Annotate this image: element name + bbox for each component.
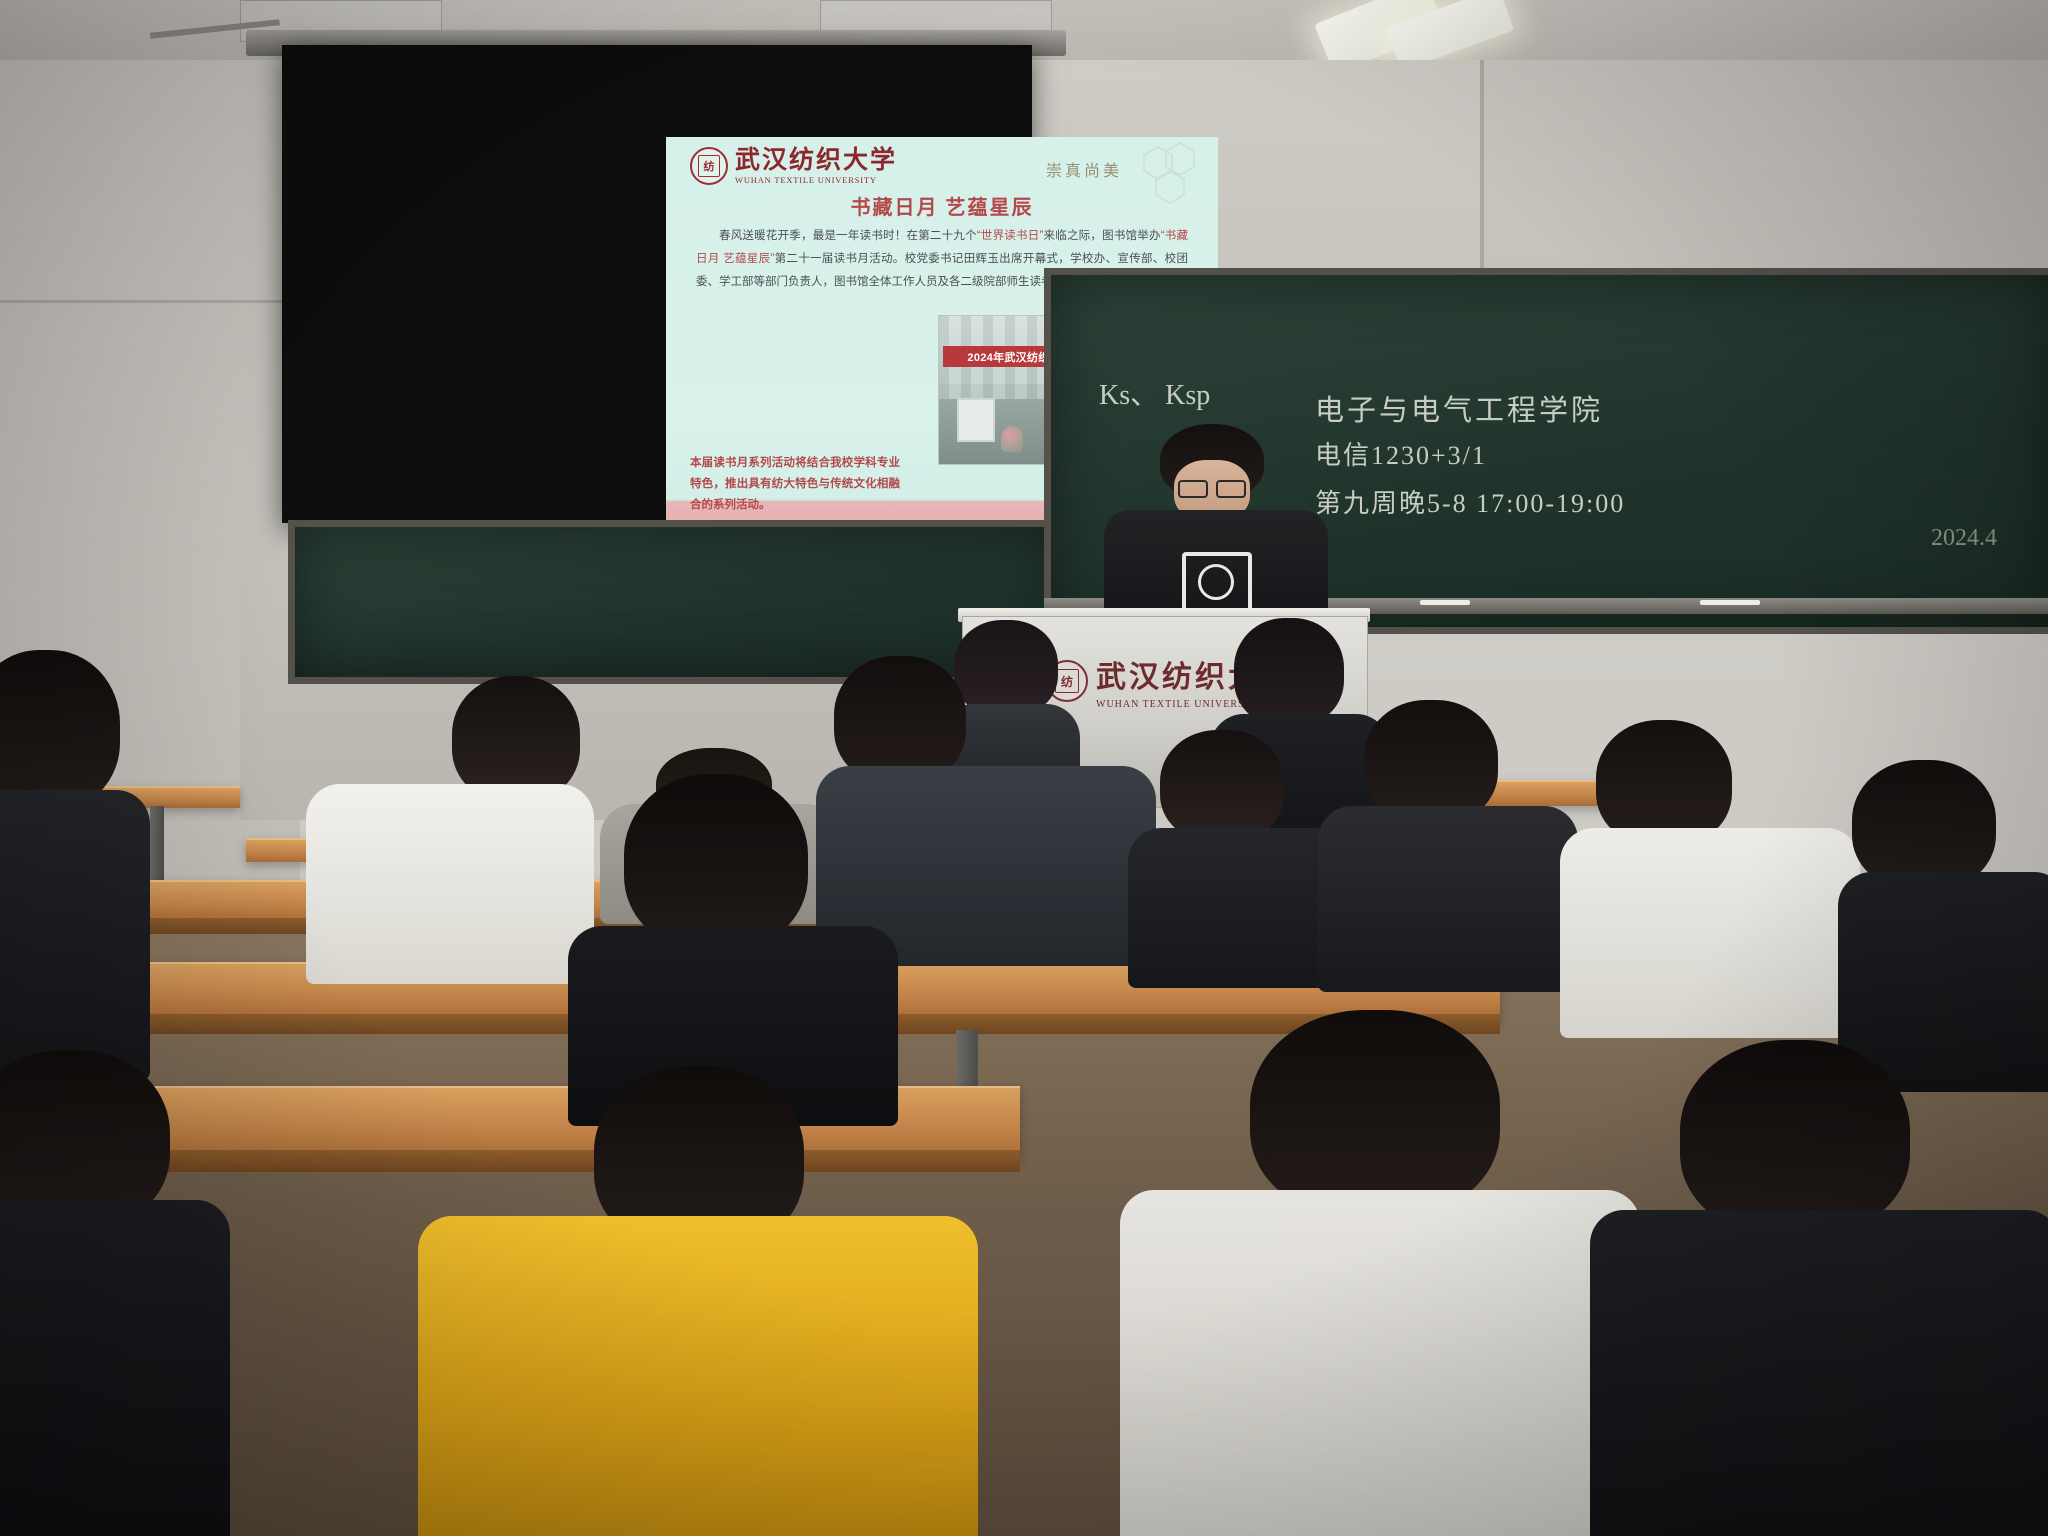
slide-footer-text: 本届读书月系列活动将结合我校学科专业特色，推出具有纺大特色与传统文化相融合的系列…	[690, 453, 900, 516]
student-head	[1160, 730, 1284, 842]
body-part-1: 春风送暖花开季，最是一年读书时！在第二十九个	[719, 230, 977, 242]
student-bottom-left-edge	[0, 1050, 230, 1536]
student-torso	[1590, 1210, 2048, 1536]
student-yellow-hoodie	[418, 1066, 978, 1536]
wall-seam	[0, 300, 292, 303]
slide-title: 书藏日月 艺蕴星辰	[666, 191, 1218, 220]
student-black-center	[568, 774, 898, 1104]
student-torso	[306, 784, 594, 984]
student-white-left	[300, 676, 590, 976]
student-head	[1250, 1010, 1500, 1218]
chalk-stick	[1420, 600, 1470, 605]
chalk-line-3: 第九周晚5-8 17:00-19:00	[1315, 483, 1625, 520]
chalk-line-4: 2024.4	[1931, 525, 1997, 552]
shirt-graphic-circle-icon	[1198, 564, 1234, 600]
student-front-far-right	[1590, 1040, 2048, 1536]
classroom-scene: 纺 武汉纺织大学 WUHAN TEXTILE UNIVERSITY 崇真尚美 书…	[0, 0, 2048, 1536]
university-name-en: WUHAN TEXTILE UNIVERSITY	[735, 175, 897, 185]
presenter	[1086, 424, 1346, 624]
university-motto: 崇真尚美	[1046, 157, 1122, 181]
body-quote-1: 世界读书日	[981, 230, 1040, 242]
student-head	[624, 774, 808, 950]
desk-leg	[150, 806, 164, 886]
student-head	[1852, 760, 1996, 890]
student-torso	[418, 1216, 978, 1536]
student-head	[1680, 1040, 1910, 1236]
student-torso	[1128, 828, 1348, 988]
student-front-right	[1120, 1010, 1640, 1536]
slide-university-logo: 纺 武汉纺织大学 WUHAN TEXTILE UNIVERSITY	[690, 147, 897, 185]
glasses-icon	[1178, 480, 1246, 494]
student-right-white	[1560, 720, 1860, 1020]
chalk-line-0: Ks、 Ksp	[1099, 373, 1210, 413]
student-torso	[1318, 806, 1578, 992]
student-head	[834, 656, 966, 784]
student-right-dark	[1318, 700, 1578, 980]
seal-inner-icon: 纺	[698, 155, 720, 177]
university-seal-icon: 纺	[690, 147, 728, 185]
student-torso	[1120, 1190, 1640, 1536]
student-torso	[0, 790, 150, 1080]
photo-easel	[957, 398, 995, 442]
student-front-left-edge	[0, 650, 150, 1070]
student-torso	[1560, 828, 1860, 1038]
student-far-right	[1838, 760, 2048, 1080]
chalk-stick	[1700, 600, 1760, 605]
student-torso	[0, 1200, 230, 1536]
university-name-cn: 武汉纺织大学	[735, 148, 897, 173]
chalk-line-1: 电子与电气工程学院	[1315, 387, 1603, 429]
student-head	[0, 650, 120, 810]
photo-flower-stand	[1001, 426, 1023, 452]
projection-screen: 纺 武汉纺织大学 WUHAN TEXTILE UNIVERSITY 崇真尚美 书…	[282, 45, 1032, 523]
body-part-2: 来临之际，图书馆举办	[1043, 230, 1160, 242]
student-masked	[1128, 730, 1348, 980]
